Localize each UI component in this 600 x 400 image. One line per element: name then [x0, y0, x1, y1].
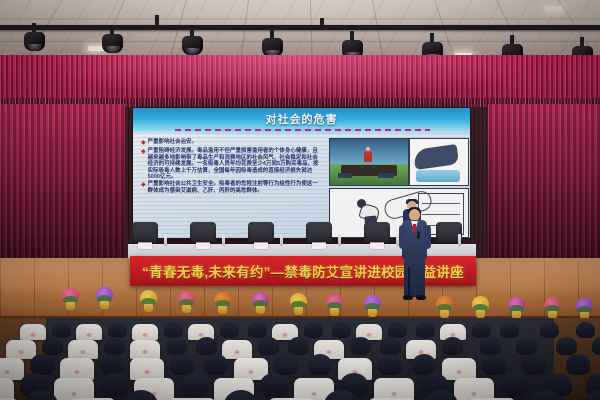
speaker-shoe — [416, 295, 426, 300]
water-bottle — [458, 234, 461, 246]
flower-pot — [472, 296, 489, 318]
flower-pot — [214, 292, 231, 314]
slide-illustration-hand — [409, 138, 469, 186]
slide-bullet-item: ◆ 严重阻碍经济发展。毒品滥用不但严重损害滥用者的个体身心健康，且越来越多地影响… — [141, 148, 321, 180]
slide-bullet-item: ◆ 严重影响社会治安。 — [141, 139, 321, 147]
water-bottle — [338, 234, 341, 246]
speaker-arm-right — [424, 225, 431, 249]
flower-pot — [326, 294, 343, 316]
flower-pot — [508, 297, 525, 319]
flower-pot — [140, 290, 157, 312]
flower-pot — [364, 295, 381, 317]
flower-pot — [178, 291, 195, 313]
name-card — [370, 242, 384, 249]
speaker-figure — [398, 209, 432, 301]
flower-pot — [252, 292, 269, 314]
recessed-lamp-icon — [545, 6, 562, 11]
flower-pot — [576, 298, 593, 320]
name-card — [196, 242, 210, 249]
stage-valance — [0, 55, 600, 107]
slide-bullet-text: 严重影响社会治安。 — [148, 139, 197, 147]
flower-pot — [62, 288, 79, 310]
water-bottle — [280, 234, 283, 246]
water-bottle — [222, 234, 225, 246]
speaker-shoe — [403, 295, 413, 300]
stage-spotlight-icon — [24, 30, 45, 52]
audience-area — [0, 318, 600, 400]
speaker-tie — [413, 224, 416, 233]
slide-bullet-text: 严重影响社会公共卫生安全。吸毒者的危险注射等行为给性行为使这一群体成为感染艾滋病… — [148, 181, 321, 194]
truss-drop — [320, 18, 324, 29]
name-card — [138, 242, 152, 249]
auditorium-photo: 对社会的危害 ◆ 严重影响社会治安。 ◆ 严重阻碍经济发展。毒品滥用不但严重损害… — [0, 0, 600, 400]
truss-drop — [155, 15, 159, 26]
flower-pot — [96, 287, 113, 309]
lighting-truss — [0, 25, 600, 30]
diamond-bullet-icon: ◆ — [141, 181, 146, 194]
microphone-icon — [417, 231, 420, 239]
name-card — [312, 242, 326, 249]
slide-bullet-list: ◆ 严重影响社会治安。 ◆ 严重阻碍经济发展。毒品滥用不但严重损害滥用者的个体身… — [141, 139, 321, 195]
slide-title-rule — [175, 129, 430, 131]
flower-pot — [436, 296, 453, 318]
stage-spotlight-icon — [182, 34, 203, 56]
diamond-bullet-icon: ◆ — [141, 139, 146, 147]
flower-pot — [544, 297, 561, 319]
diamond-bullet-icon: ◆ — [141, 148, 146, 180]
speaker-arm-left — [399, 225, 406, 249]
stage-spotlight-icon — [102, 32, 123, 54]
slide-bullet-text: 严重阻碍经济发展。毒品滥用不但严重损害滥用者的个体身心健康，且越来越多地影响带了… — [148, 148, 321, 180]
slide-illustration-cliff — [329, 138, 409, 186]
slide-title: 对社会的危害 — [133, 111, 470, 127]
flower-pot — [290, 293, 307, 315]
slide-bullet-item: ◆ 严重影响社会公共卫生安全。吸毒者的危险注射等行为给性行为使这一群体成为感染艾… — [141, 181, 321, 194]
name-card — [254, 242, 268, 249]
water-bottle — [164, 234, 167, 246]
